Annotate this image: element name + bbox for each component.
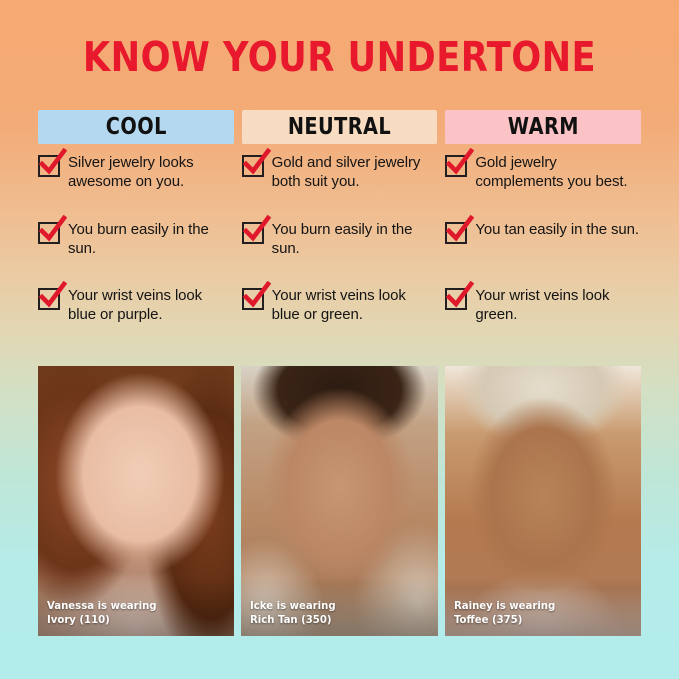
checklist-item-label: You burn easily in the sun. xyxy=(272,220,438,258)
checklist-item-label: Silver jewelry looks awesome on you. xyxy=(68,153,234,191)
checkmark-icon xyxy=(242,222,264,244)
model-photo-rainey: Rainey is wearing Toffee (375) xyxy=(445,366,641,636)
checklist-item-label: You burn easily in the sun. xyxy=(68,220,234,258)
checklist-item-label: Your wrist veins look blue or purple. xyxy=(68,286,234,324)
column-header-cool: COOL xyxy=(38,110,234,144)
checklist-item-label: Gold jewelry complements you best. xyxy=(475,153,641,191)
checklist-item: Your wrist veins look green. xyxy=(445,286,641,353)
model-photo-row: Vanessa is wearing Ivory (110) Icke is w… xyxy=(38,366,641,636)
checklist-columns: Silver jewelry looks awesome on you. You… xyxy=(38,153,641,353)
column-header-neutral-label: NEUTRAL xyxy=(288,114,391,140)
checklist-item: Silver jewelry looks awesome on you. xyxy=(38,153,234,220)
checklist-column-cool: Silver jewelry looks awesome on you. You… xyxy=(38,153,234,353)
checklist-item-label: Your wrist veins look blue or green. xyxy=(272,286,438,324)
column-header-warm: WARM xyxy=(445,110,641,144)
checkmark-icon xyxy=(38,222,60,244)
checkmark-icon xyxy=(445,288,467,310)
undertone-header-row: COOL NEUTRAL WARM xyxy=(38,110,641,144)
checklist-item-label: Gold and silver jewelry both suit you. xyxy=(272,153,438,191)
checklist-column-warm: Gold jewelry complements you best. You t… xyxy=(445,153,641,353)
checkmark-icon xyxy=(445,155,467,177)
checklist-column-neutral: Gold and silver jewelry both suit you. Y… xyxy=(242,153,438,353)
model-photo-vanessa: Vanessa is wearing Ivory (110) xyxy=(38,366,234,636)
column-header-warm-label: WARM xyxy=(508,114,579,140)
checklist-item: You tan easily in the sun. xyxy=(445,220,641,287)
checkmark-icon xyxy=(445,222,467,244)
page-title: KNOW YOUR UNDERTONE xyxy=(48,34,632,80)
checkmark-icon xyxy=(242,288,264,310)
checklist-item: Your wrist veins look blue or green. xyxy=(242,286,438,353)
photo-caption: Rainey is wearing Toffee (375) xyxy=(454,599,555,626)
photo-caption: Icke is wearing Rich Tan (350) xyxy=(250,599,336,626)
checkmark-icon xyxy=(242,155,264,177)
column-header-neutral: NEUTRAL xyxy=(242,110,438,144)
checklist-item: Gold jewelry complements you best. xyxy=(445,153,641,220)
checklist-item: Gold and silver jewelry both suit you. xyxy=(242,153,438,220)
checklist-item: You burn easily in the sun. xyxy=(38,220,234,287)
model-photo-icke: Icke is wearing Rich Tan (350) xyxy=(241,366,437,636)
checklist-item: Your wrist veins look blue or purple. xyxy=(38,286,234,353)
photo-caption: Vanessa is wearing Ivory (110) xyxy=(47,599,157,626)
checklist-item: You burn easily in the sun. xyxy=(242,220,438,287)
checkmark-icon xyxy=(38,288,60,310)
checkmark-icon xyxy=(38,155,60,177)
column-header-cool-label: COOL xyxy=(105,114,166,140)
page-title-container: KNOW YOUR UNDERTONE xyxy=(0,34,679,80)
checklist-item-label: Your wrist veins look green. xyxy=(475,286,641,324)
checklist-item-label: You tan easily in the sun. xyxy=(475,220,639,239)
